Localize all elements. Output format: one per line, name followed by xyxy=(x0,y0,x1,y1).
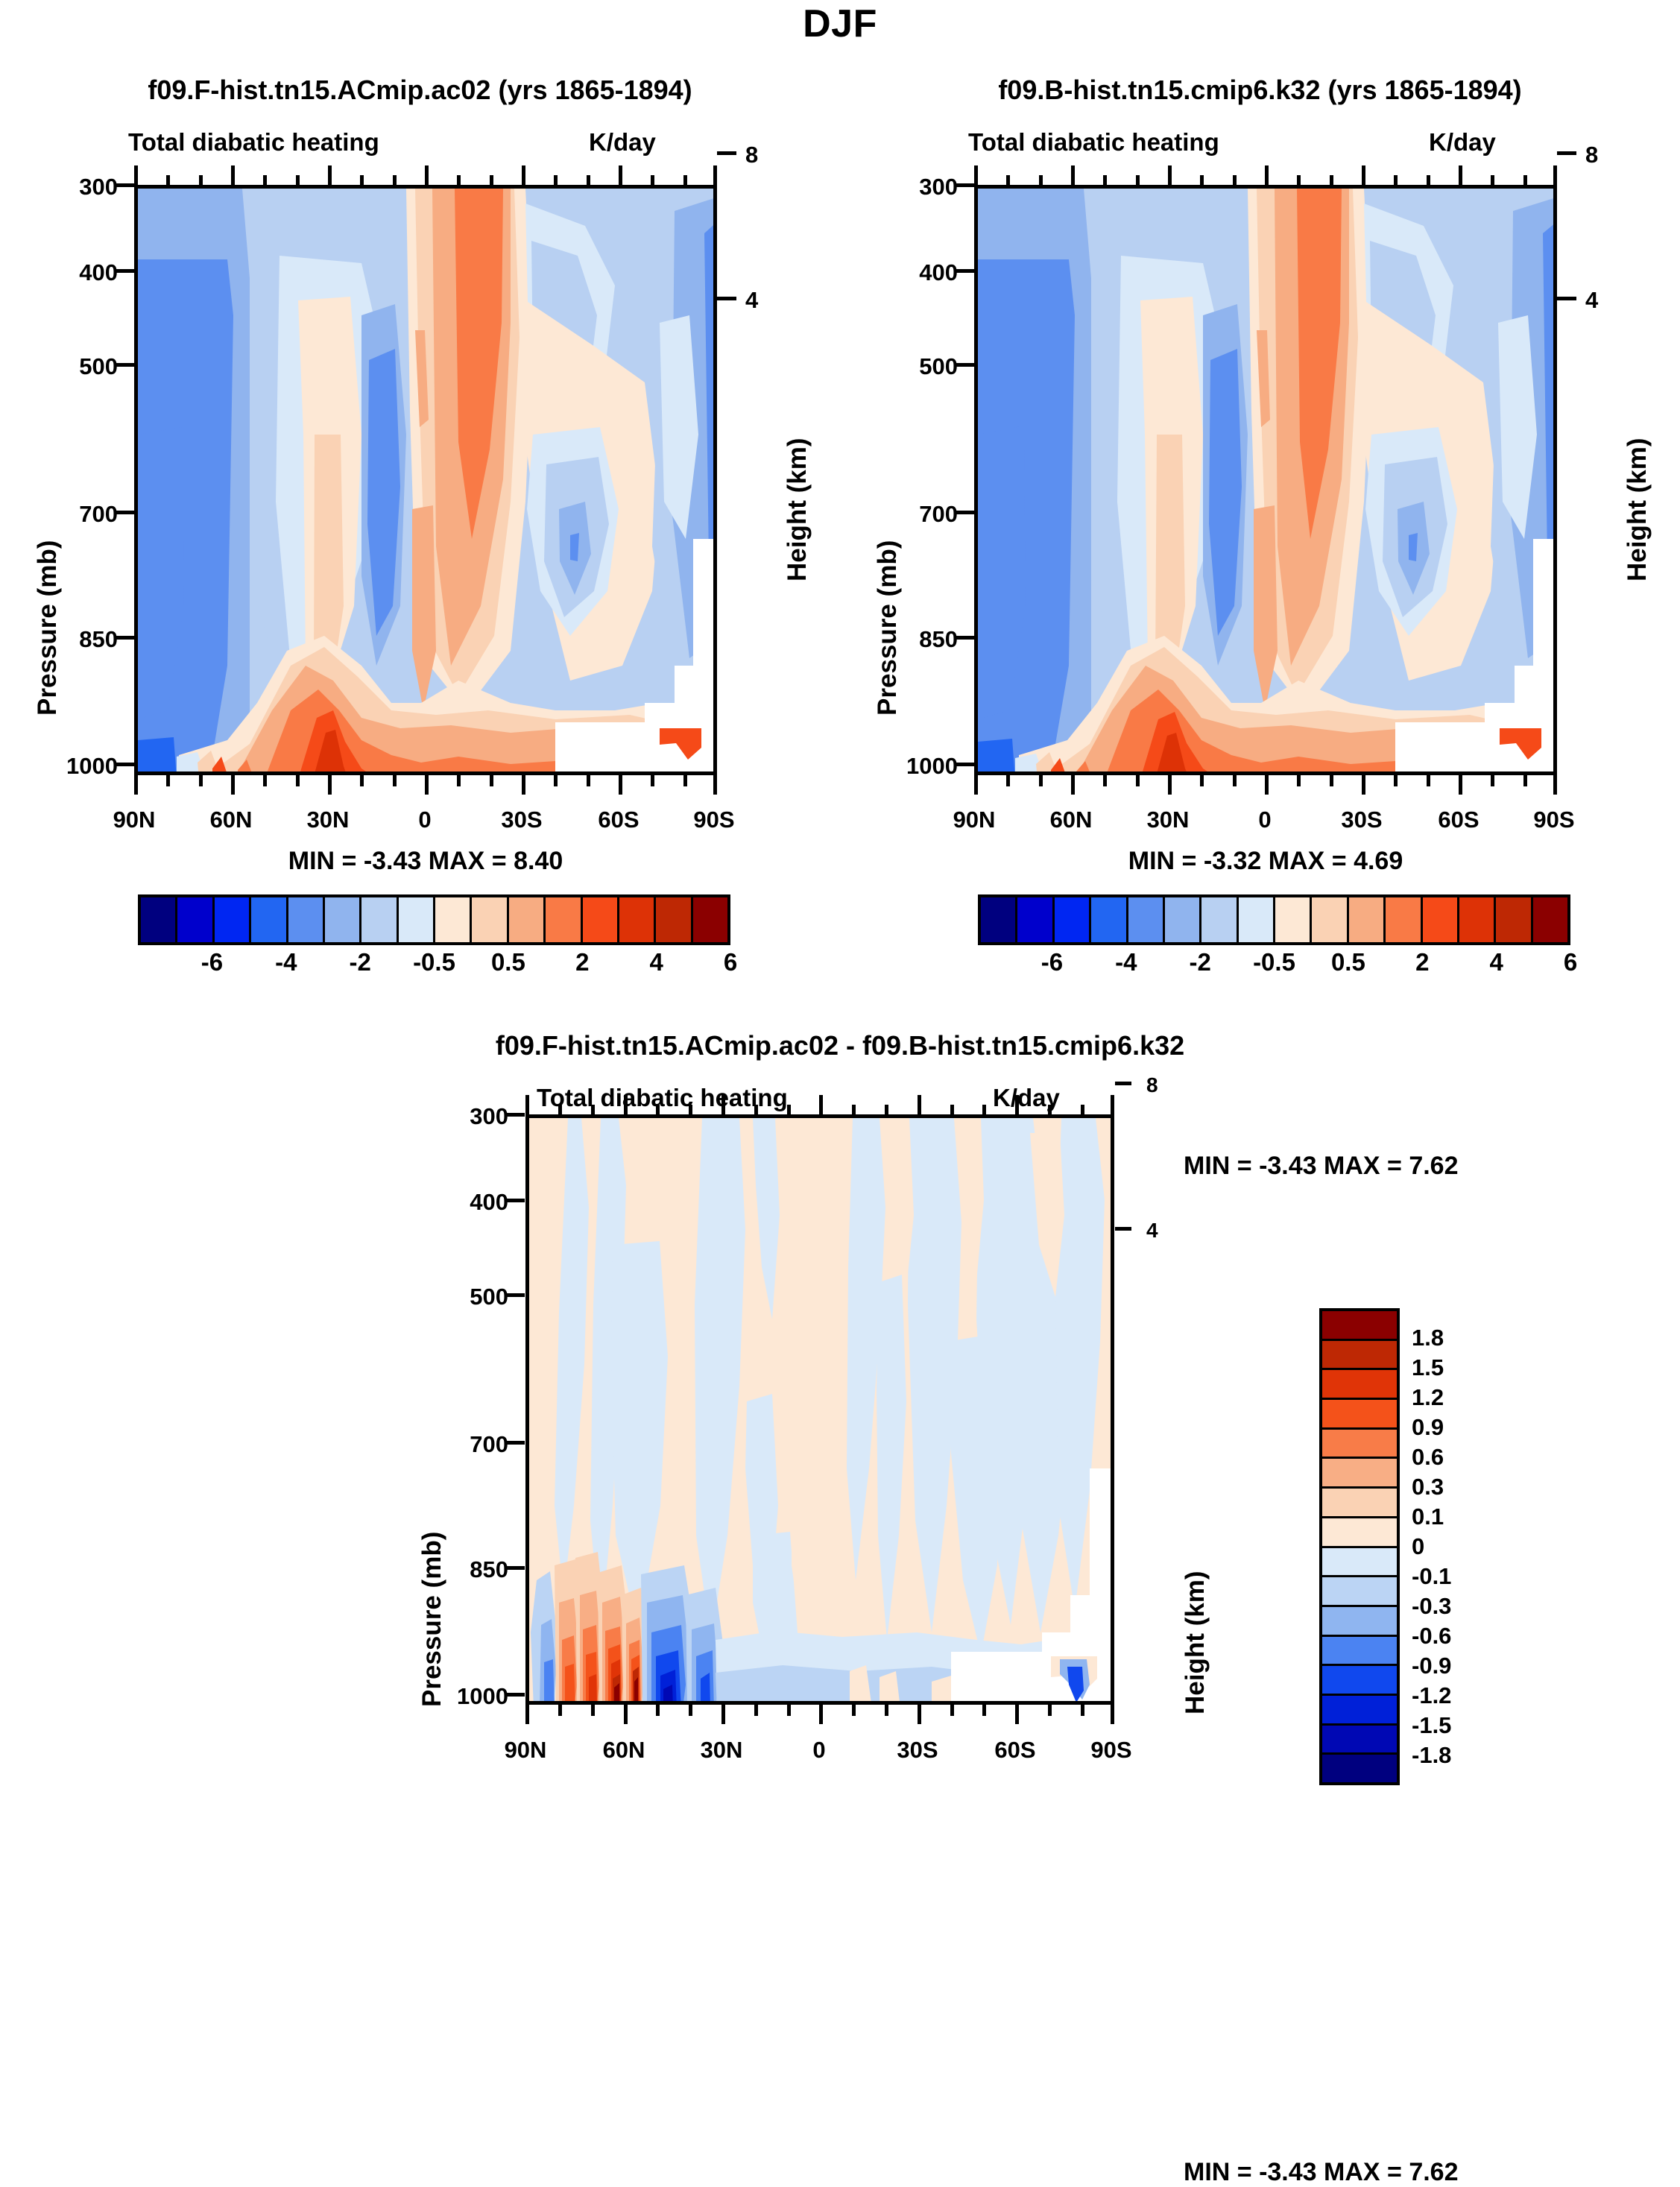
tick-label-pressure: 400 xyxy=(907,259,958,286)
colorbar-tick-label: -2 xyxy=(349,948,370,976)
colorbar-swatch xyxy=(251,897,288,942)
axis-tick xyxy=(115,363,134,367)
axis-tick xyxy=(505,1693,525,1697)
tick-label-height: 4 xyxy=(1146,1219,1158,1243)
xaxis-ticks-bottom xyxy=(525,1705,1114,1729)
colorbar-tick-label: 6 xyxy=(1564,948,1577,976)
tick-label-lat: 60S xyxy=(994,1737,1035,1764)
colorbar-tick-label: -0.3 xyxy=(1412,1593,1451,1620)
panel-top-left-yaxis-title-wrap: Pressure (mb) xyxy=(30,194,64,760)
panel-top-left-minmax: MIN = -3.43 MAX = 8.40 xyxy=(134,847,717,876)
tick-label-pressure: 300 xyxy=(458,1103,508,1130)
colorbar-swatch xyxy=(583,897,619,942)
colorbar-swatch xyxy=(1322,1400,1397,1430)
axis-tick xyxy=(115,269,134,273)
colorbar-difference: 1.81.51.20.90.60.30.10-0.1-0.3-0.6-0.9-1… xyxy=(1319,1308,1543,1785)
colorbar-swatch xyxy=(619,897,656,942)
colorbar-labels: -6-4-2-0.50.5246 xyxy=(978,945,1570,976)
contour-svg xyxy=(529,1118,1111,1701)
colorbar-tick-label: 1.2 xyxy=(1412,1384,1444,1411)
colorbar-tick-label: -1.2 xyxy=(1412,1682,1451,1709)
colorbar-swatch xyxy=(1322,1696,1397,1726)
colorbar-swatch xyxy=(1533,897,1567,942)
colorbar-tick-label: 0.5 xyxy=(491,948,525,976)
colorbar-swatch xyxy=(1322,1577,1397,1607)
axis-tick xyxy=(955,763,974,766)
colorbar-swatch xyxy=(1201,897,1238,942)
panel-bottom-y2axis-title-holder: Height (km) xyxy=(1178,1394,1215,1737)
colorbar-swatch xyxy=(1128,897,1165,942)
colorbar-tick-label: -1.8 xyxy=(1412,1742,1451,1769)
panel-top-left-y2axis-title: Height (km) xyxy=(783,438,812,582)
axis-tick xyxy=(115,763,134,766)
contour-field xyxy=(529,1118,1111,1701)
tick-label-height: 8 xyxy=(1146,1073,1158,1097)
colorbar-labels: 1.81.51.20.90.60.30.10-0.1-0.3-0.6-0.9-1… xyxy=(1412,1308,1538,1785)
axis-tick xyxy=(955,636,974,640)
colorbar-swatch xyxy=(1322,1489,1397,1518)
tick-label-pressure: 300 xyxy=(67,174,118,201)
colorbar-swatch xyxy=(1459,897,1496,942)
colorbar-tick-label: 1.5 xyxy=(1412,1354,1444,1381)
tick-label-lat: 30N xyxy=(1147,807,1190,833)
colorbar-tick-label: -2 xyxy=(1189,948,1210,976)
colorbar-swatch xyxy=(1322,1548,1397,1578)
colorbar-swatch xyxy=(1322,1311,1397,1341)
colorbar-swatch xyxy=(1091,897,1128,942)
panel-top-left-yaxis-title: Pressure (mb) xyxy=(33,540,63,716)
tick-label-pressure: 500 xyxy=(67,353,118,380)
axis-tick xyxy=(505,1293,525,1297)
tick-label-pressure: 1000 xyxy=(51,753,118,780)
colorbar-swatches xyxy=(138,894,730,945)
tick-label-pressure: 850 xyxy=(67,626,118,653)
tick-label-lat: 90N xyxy=(113,807,156,833)
colorbar-tick-label: -4 xyxy=(275,948,297,976)
tick-label-pressure: 700 xyxy=(907,501,958,528)
tick-label-lat: 30S xyxy=(897,1737,938,1764)
colorbar-swatch xyxy=(1322,1370,1397,1400)
colorbar-tick-label: 0 xyxy=(1412,1533,1424,1560)
colorbar-swatch xyxy=(1386,897,1422,942)
colorbar-swatch xyxy=(288,897,325,942)
colorbar-swatch xyxy=(546,897,582,942)
xaxis-labels-top-right: 90N 60N 30N 0 30S 60S 90S xyxy=(974,807,1557,839)
panel-bottom-minmax: MIN = -3.43 MAX = 7.62 xyxy=(1184,2158,1459,2187)
axis-tick xyxy=(955,269,974,273)
panel-top-left-title: f09.F-hist.tn15.ACmip.ac02 (yrs 1865-189… xyxy=(0,75,840,106)
panel-bottom-yaxis-title: Pressure (mb) xyxy=(417,1532,447,1707)
tick-label-lat: 60S xyxy=(1438,807,1479,833)
axis-tick xyxy=(955,183,974,187)
panel-top-right-yaxis-title: Pressure (mb) xyxy=(873,540,903,716)
colorbar-swatch xyxy=(1423,897,1459,942)
tick-label-pressure: 850 xyxy=(907,626,958,653)
colorbar-tick-label: -4 xyxy=(1115,948,1137,976)
xaxis-ticks-top-left xyxy=(134,775,717,799)
colorbar-swatch xyxy=(177,897,214,942)
colorbar-tick-label: 4 xyxy=(1489,948,1503,976)
colorbar-tick-label: 0.9 xyxy=(1412,1414,1444,1441)
colorbar-swatch xyxy=(1275,897,1312,942)
colorbar-tick-label: -6 xyxy=(201,948,223,976)
xaxis-ticks-top-edge-top-right xyxy=(974,165,1557,186)
panel-bottom-yaxis-title-wrap xyxy=(417,2139,452,2140)
tick-label-pressure: 700 xyxy=(67,501,118,528)
colorbar-tick-label: -0.9 xyxy=(1412,1653,1451,1679)
colorbar-tick-label: -0.5 xyxy=(1253,948,1295,976)
axis-tick xyxy=(955,511,974,514)
colorbar-tick-label: 0.1 xyxy=(1412,1503,1444,1530)
colorbar-swatch xyxy=(1322,1459,1397,1489)
colorbar-tick-label: 4 xyxy=(649,948,663,976)
contour-field xyxy=(138,189,713,771)
colorbar-tick-label: 6 xyxy=(724,948,737,976)
tick-label-lat: 90S xyxy=(1533,807,1574,833)
panel-top-left-y2axis-title-wrap: Height (km) xyxy=(780,298,814,611)
colorbar-tick-label: 0.3 xyxy=(1412,1474,1444,1500)
tick-label-lat: 30N xyxy=(307,807,350,833)
tick-label-height: 8 xyxy=(1585,142,1598,168)
panel-top-right-unit-label: K/day xyxy=(1429,128,1496,157)
xaxis-labels-bottom: 90N 60N 30N 0 30S 60S 90S xyxy=(525,1737,1114,1770)
tick-label-lat: 90N xyxy=(505,1737,547,1764)
tick-label-pressure: 1000 xyxy=(891,753,958,780)
axis-tick xyxy=(1115,1082,1131,1085)
axis-tick xyxy=(955,363,974,367)
contour-field xyxy=(978,189,1553,771)
colorbar-swatch xyxy=(1312,897,1348,942)
tick-label-lat: 30N xyxy=(701,1737,743,1764)
colorbar-tick-label: 2 xyxy=(575,948,589,976)
tick-label-height: 4 xyxy=(1585,287,1598,314)
panel-top-right-field-label: Total diabatic heating xyxy=(968,128,1219,157)
axis-tick xyxy=(505,1199,525,1202)
panel-bottom-y2axis-title: Height (km) xyxy=(1181,1571,1210,1715)
tick-label-lat: 60N xyxy=(1050,807,1093,833)
tick-label-pressure: 700 xyxy=(458,1431,508,1458)
colorbar-swatch xyxy=(1322,1637,1397,1667)
panel-top-right-y2axis-title: Height (km) xyxy=(1623,438,1652,582)
colorbar-swatch xyxy=(1322,1726,1397,1755)
panel-top-left: f09.F-hist.tn15.ACmip.ac02 (yrs 1865-189… xyxy=(0,0,840,991)
colorbar-swatch xyxy=(1322,1430,1397,1459)
panel-top-right-minmax: MIN = -3.32 MAX = 4.69 xyxy=(974,847,1557,876)
tick-label-lat: 90N xyxy=(953,807,996,833)
panel-bottom-minmax-visible: MIN = -3.43 MAX = 7.62 xyxy=(1184,1152,1459,1181)
colorbar-swatch xyxy=(215,897,251,942)
contour-plot-top-left xyxy=(134,185,717,775)
tick-label-lat: 90S xyxy=(693,807,734,833)
tick-label-lat: 60N xyxy=(210,807,253,833)
tick-label-pressure: 1000 xyxy=(441,1683,508,1710)
xaxis-labels-top-left: 90N 60N 30N 0 30S 60S 90S xyxy=(134,807,717,839)
colorbar-swatch xyxy=(472,897,508,942)
contour-plot-bottom xyxy=(525,1114,1114,1705)
colorbar-swatch xyxy=(1055,897,1091,942)
colorbar-tick-label: -0.1 xyxy=(1412,1563,1451,1590)
axis-tick xyxy=(1115,1227,1131,1231)
panel-top-left-field-label: Total diabatic heating xyxy=(128,128,379,157)
colorbar-tick-label: -0.5 xyxy=(413,948,455,976)
colorbar-top-left: -6-4-2-0.50.5246 xyxy=(138,894,730,976)
colorbar-swatch xyxy=(981,897,1017,942)
contour-svg xyxy=(978,189,1553,771)
colorbar-tick-label: -1.5 xyxy=(1412,1712,1451,1739)
tick-label-lat: 0 xyxy=(418,807,431,833)
axis-tick xyxy=(717,297,736,300)
tick-label-lat: 30S xyxy=(1341,807,1382,833)
axis-tick xyxy=(717,151,736,155)
colorbar-swatch xyxy=(435,897,472,942)
colorbar-swatch xyxy=(509,897,546,942)
colorbar-labels: -6-4-2-0.50.5246 xyxy=(138,945,730,976)
colorbar-tick-label: -0.6 xyxy=(1412,1623,1451,1650)
tick-label-lat: 0 xyxy=(1258,807,1271,833)
colorbar-swatch xyxy=(1349,897,1386,942)
colorbar-top-right: -6-4-2-0.50.5246 xyxy=(978,894,1570,976)
tick-label-lat: 60S xyxy=(598,807,639,833)
colorbar-swatch xyxy=(361,897,398,942)
tick-label-pressure: 500 xyxy=(907,353,958,380)
tick-label-pressure: 500 xyxy=(458,1284,508,1310)
axis-tick xyxy=(115,636,134,640)
tick-label-pressure: 300 xyxy=(907,174,958,201)
colorbar-swatch xyxy=(141,897,177,942)
tick-label-pressure: 400 xyxy=(458,1189,508,1216)
panel-top-right-yaxis-title-wrap: Pressure (mb) xyxy=(870,194,904,760)
colorbar-swatch xyxy=(1322,1341,1397,1371)
axis-tick xyxy=(505,1113,525,1117)
colorbar-swatch xyxy=(1017,897,1054,942)
tick-label-height: 8 xyxy=(745,142,758,168)
contour-svg xyxy=(138,189,713,771)
colorbar-tick-label: 1.8 xyxy=(1412,1325,1444,1351)
contour-plot-top-right xyxy=(974,185,1557,775)
colorbar-swatch xyxy=(399,897,435,942)
colorbar-tick-label: 0.6 xyxy=(1412,1444,1444,1471)
colorbar-swatches xyxy=(1319,1308,1400,1785)
colorbar-swatch xyxy=(1496,897,1532,942)
tick-label-pressure: 850 xyxy=(458,1556,508,1583)
axis-tick xyxy=(505,1441,525,1445)
panel-bottom: f09.F-hist.tn15.ACmip.ac02 - f09.B-hist.… xyxy=(0,991,1680,1802)
tick-label-lat: 90S xyxy=(1090,1737,1131,1764)
tick-label-height: 4 xyxy=(745,287,758,314)
tick-label-lat: 60N xyxy=(603,1737,645,1764)
axis-tick xyxy=(115,183,134,187)
tick-label-lat: 30S xyxy=(501,807,542,833)
xaxis-ticks-top-right xyxy=(974,775,1557,799)
axis-tick xyxy=(1557,297,1576,300)
panel-bottom-title: f09.F-hist.tn15.ACmip.ac02 - f09.B-hist.… xyxy=(0,1030,1680,1061)
colorbar-swatch xyxy=(1239,897,1275,942)
axis-tick xyxy=(1557,151,1576,155)
colorbar-swatch xyxy=(1322,1755,1397,1782)
colorbar-swatch xyxy=(1322,1607,1397,1637)
panel-top-left-unit-label: K/day xyxy=(589,128,656,157)
colorbar-swatch xyxy=(1322,1518,1397,1548)
colorbar-swatch xyxy=(693,897,727,942)
xaxis-ticks-top-edge-bottom xyxy=(525,1095,1114,1116)
axis-tick xyxy=(505,1566,525,1570)
xaxis-ticks-top-edge-top-left xyxy=(134,165,717,186)
colorbar-swatch xyxy=(325,897,361,942)
colorbar-swatch xyxy=(1165,897,1201,942)
panel-top-right: f09.B-hist.tn15.cmip6.k32 (yrs 1865-1894… xyxy=(840,0,1680,991)
tick-label-lat: 0 xyxy=(812,1737,825,1764)
colorbar-swatch xyxy=(1322,1666,1397,1696)
panel-top-right-y2axis-title-wrap: Height (km) xyxy=(1620,298,1654,611)
tick-label-pressure: 400 xyxy=(67,259,118,286)
colorbar-swatch xyxy=(656,897,692,942)
colorbar-tick-label: -6 xyxy=(1041,948,1063,976)
colorbar-tick-label: 0.5 xyxy=(1331,948,1365,976)
colorbar-tick-label: 2 xyxy=(1415,948,1429,976)
colorbar-swatches xyxy=(978,894,1570,945)
panel-top-right-title: f09.B-hist.tn15.cmip6.k32 (yrs 1865-1894… xyxy=(840,75,1680,106)
axis-tick xyxy=(115,511,134,514)
